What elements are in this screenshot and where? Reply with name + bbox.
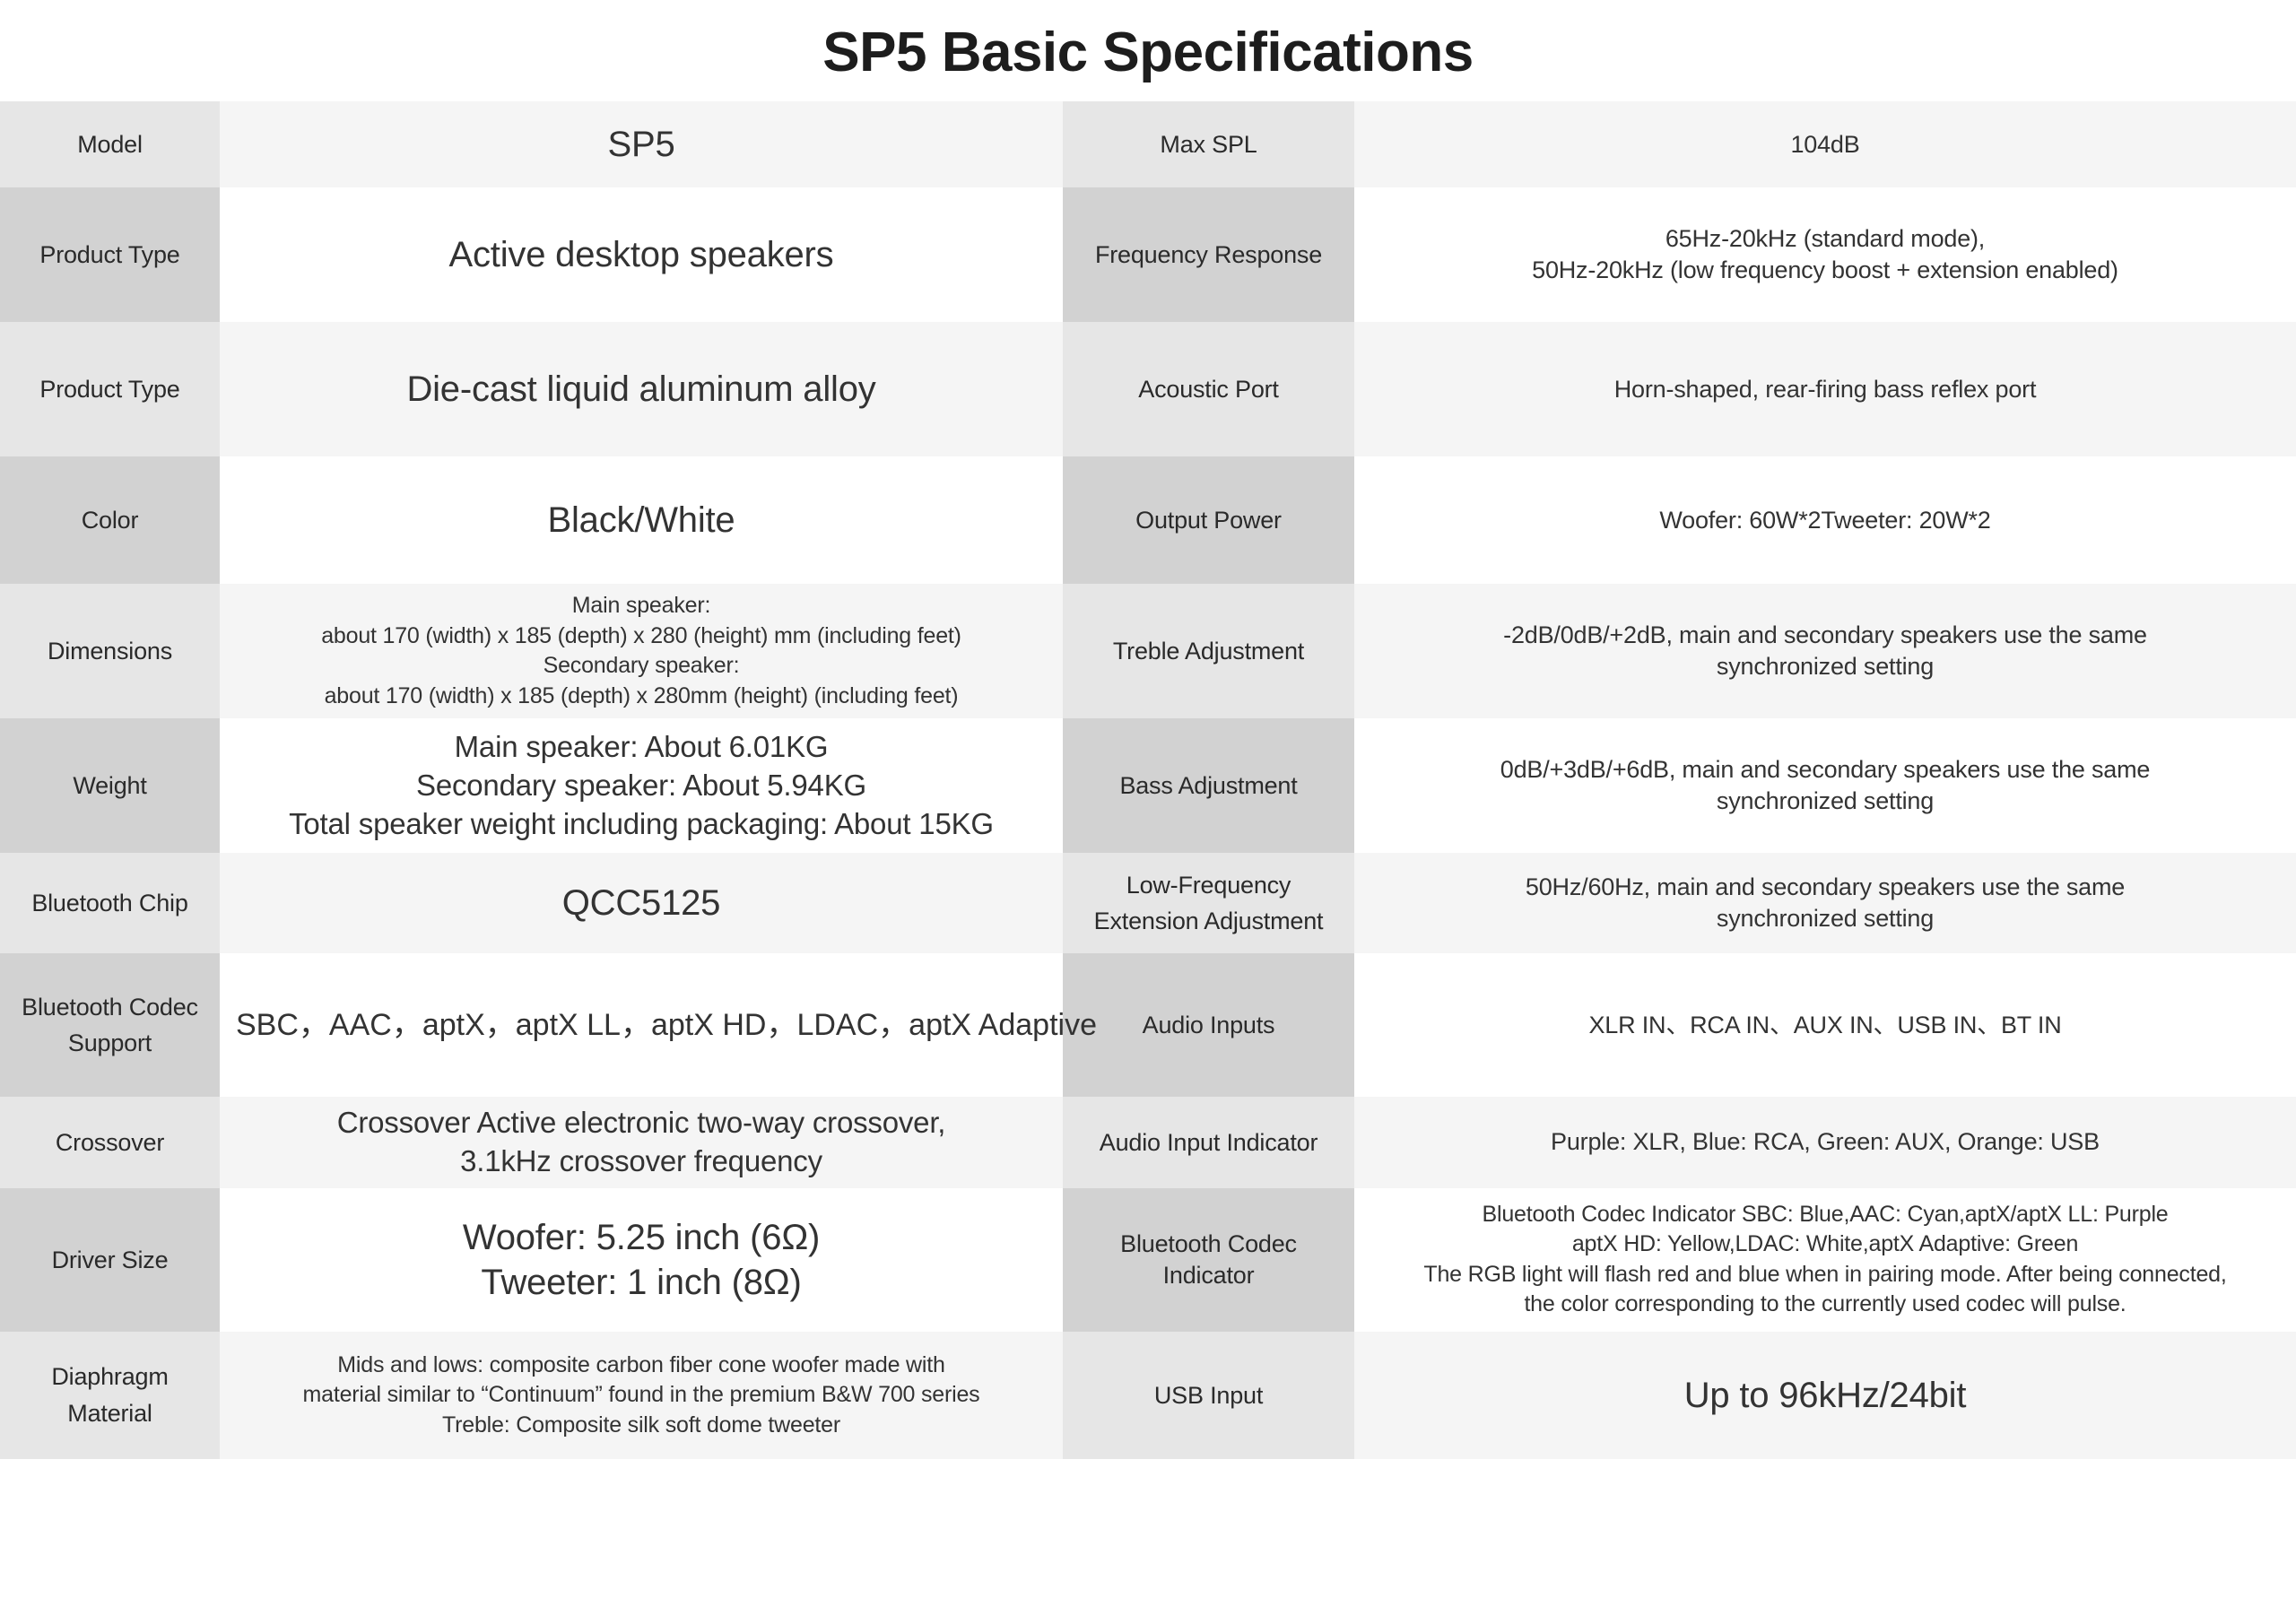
row-value-weight: Main speaker: About 6.01KG Secondary spe… [220, 718, 1063, 853]
row-value-output-power: Woofer: 60W*2Tweeter: 20W*2 [1354, 456, 2296, 584]
table-row: Weight Main speaker: About 6.01KG Second… [0, 718, 2296, 853]
table-row: Dimensions Main speaker: about 170 (widt… [0, 584, 2296, 718]
row-label-max-spl: Max SPL [1063, 101, 1354, 187]
row-label-bluetooth-chip: Bluetooth Chip [0, 853, 220, 953]
text-line: 0dB/+3dB/+6dB, main and secondary speake… [1370, 754, 2280, 786]
row-label-low-frequency-extension-adjustment: Low-Frequency Extension Adjustment [1063, 853, 1354, 953]
row-value-bluetooth-codec-indicator: Bluetooth Codec Indicator SBC: Blue,AAC:… [1354, 1188, 2296, 1332]
row-value-model: SP5 [220, 101, 1063, 187]
row-value-dimensions: Main speaker: about 170 (width) x 185 (d… [220, 584, 1063, 718]
row-label-bluetooth-codec-support: Bluetooth Codec Support [0, 953, 220, 1097]
text-line: synchronized setting [1370, 786, 2280, 817]
text-line: aptX HD: Yellow,LDAC: White,aptX Adaptiv… [1370, 1229, 2280, 1260]
table-row: Driver Size Woofer: 5.25 inch (6Ω) Tweet… [0, 1188, 2296, 1332]
text-line: 65Hz-20kHz (standard mode), [1370, 223, 2280, 255]
row-value-bluetooth-chip: QCC5125 [220, 853, 1063, 953]
table-row: Product Type Active desktop speakers Fre… [0, 187, 2296, 322]
row-value-acoustic-port: Horn-shaped, rear-firing bass reflex por… [1354, 322, 2296, 456]
row-value-crossover: Crossover Active electronic two-way cros… [220, 1097, 1063, 1188]
table-row: Model SP5 Max SPL 104dB [0, 101, 2296, 187]
row-value-diaphragm-material: Mids and lows: composite carbon fiber co… [220, 1332, 1063, 1459]
text-line: material similar to “Continuum” found in… [236, 1380, 1047, 1411]
text-line: about 170 (width) x 185 (depth) x 280 (h… [236, 621, 1047, 652]
spec-sheet-page: SP5 Basic Specifications Model SP5 Max S… [0, 0, 2296, 1607]
row-value-bluetooth-codec-support: SBC，AAC，aptX，aptX LL，aptX HD，LDAC，aptX A… [220, 953, 1063, 1097]
row-value-product-type-material: Die-cast liquid aluminum alloy [220, 322, 1063, 456]
row-value-max-spl: 104dB [1354, 101, 2296, 187]
text-line: Crossover Active electronic two-way cros… [236, 1104, 1047, 1142]
text-line: 50Hz-20kHz (low frequency boost + extens… [1370, 255, 2280, 286]
text-line: Bluetooth Codec [9, 989, 211, 1026]
row-value-color: Black/White [220, 456, 1063, 584]
text-line: synchronized setting [1370, 903, 2280, 934]
text-line: Total speaker weight including packaging… [236, 805, 1047, 844]
page-title: SP5 Basic Specifications [0, 0, 2296, 101]
row-label-bass-adjustment: Bass Adjustment [1063, 718, 1354, 853]
text-line: about 170 (width) x 185 (depth) x 280mm … [236, 682, 1047, 712]
row-label-model: Model [0, 101, 220, 187]
table-row: Bluetooth Codec Support SBC，AAC，aptX，apt… [0, 953, 2296, 1097]
row-label-treble-adjustment: Treble Adjustment [1063, 584, 1354, 718]
text-line: Diaphragm [9, 1359, 211, 1395]
table-row: Color Black/White Output Power Woofer: 6… [0, 456, 2296, 584]
row-label-driver-size: Driver Size [0, 1188, 220, 1332]
row-value-audio-input-indicator: Purple: XLR, Blue: RCA, Green: AUX, Oran… [1354, 1097, 2296, 1188]
table-row: Crossover Crossover Active electronic tw… [0, 1097, 2296, 1188]
text-line: synchronized setting [1370, 651, 2280, 682]
row-value-bass-adjustment: 0dB/+3dB/+6dB, main and secondary speake… [1354, 718, 2296, 853]
text-line: Main speaker: [236, 591, 1047, 621]
text-line: Treble: Composite silk soft dome tweeter [236, 1411, 1047, 1441]
text-line: Extension Adjustment [1072, 903, 1345, 940]
table-row: Product Type Die-cast liquid aluminum al… [0, 322, 2296, 456]
text-line: Secondary speaker: [236, 651, 1047, 682]
row-label-bluetooth-codec-indicator: Bluetooth Codec Indicator [1063, 1188, 1354, 1332]
row-value-driver-size: Woofer: 5.25 inch (6Ω) Tweeter: 1 inch (… [220, 1188, 1063, 1332]
row-label-dimensions: Dimensions [0, 584, 220, 718]
row-label-acoustic-port: Acoustic Port [1063, 322, 1354, 456]
text-line: the color corresponding to the currently… [1370, 1290, 2280, 1320]
text-line: Mids and lows: composite carbon fiber co… [236, 1351, 1047, 1381]
text-line: 3.1kHz crossover frequency [236, 1142, 1047, 1181]
text-line: Low-Frequency [1072, 867, 1345, 904]
row-label-weight: Weight [0, 718, 220, 853]
table-row: Bluetooth Chip QCC5125 Low-Frequency Ext… [0, 853, 2296, 953]
text-line: Secondary speaker: About 5.94KG [236, 767, 1047, 805]
row-value-audio-inputs: XLR IN、RCA IN、AUX IN、USB IN、BT IN [1354, 953, 2296, 1097]
row-value-treble-adjustment: -2dB/0dB/+2dB, main and secondary speake… [1354, 584, 2296, 718]
row-value-frequency-response: 65Hz-20kHz (standard mode), 50Hz-20kHz (… [1354, 187, 2296, 322]
text-line: -2dB/0dB/+2dB, main and secondary speake… [1370, 620, 2280, 651]
row-label-output-power: Output Power [1063, 456, 1354, 584]
row-value-usb-input: Up to 96kHz/24bit [1354, 1332, 2296, 1459]
row-label-color: Color [0, 456, 220, 584]
row-label-frequency-response: Frequency Response [1063, 187, 1354, 322]
text-line: The RGB light will flash red and blue wh… [1370, 1260, 2280, 1290]
row-label-product-type-material: Product Type [0, 322, 220, 456]
row-label-crossover: Crossover [0, 1097, 220, 1188]
specifications-table: Model SP5 Max SPL 104dB Product Type Act… [0, 101, 2296, 1459]
row-label-audio-inputs: Audio Inputs [1063, 953, 1354, 1097]
row-value-product-type: Active desktop speakers [220, 187, 1063, 322]
text-line: Support [9, 1025, 211, 1062]
row-label-usb-input: USB Input [1063, 1332, 1354, 1459]
text-line: Main speaker: About 6.01KG [236, 728, 1047, 767]
row-value-low-frequency-extension-adjustment: 50Hz/60Hz, main and secondary speakers u… [1354, 853, 2296, 953]
row-label-product-type: Product Type [0, 187, 220, 322]
specifications-table-body: Model SP5 Max SPL 104dB Product Type Act… [0, 101, 2296, 1459]
text-line: Bluetooth Codec Indicator SBC: Blue,AAC:… [1370, 1200, 2280, 1230]
text-line: 50Hz/60Hz, main and secondary speakers u… [1370, 872, 2280, 903]
row-label-audio-input-indicator: Audio Input Indicator [1063, 1097, 1354, 1188]
text-line: Woofer: 5.25 inch (6Ω) [236, 1215, 1047, 1260]
table-row: Diaphragm Material Mids and lows: compos… [0, 1332, 2296, 1459]
row-label-diaphragm-material: Diaphragm Material [0, 1332, 220, 1459]
text-line: Material [9, 1395, 211, 1432]
text-line: Tweeter: 1 inch (8Ω) [236, 1260, 1047, 1305]
